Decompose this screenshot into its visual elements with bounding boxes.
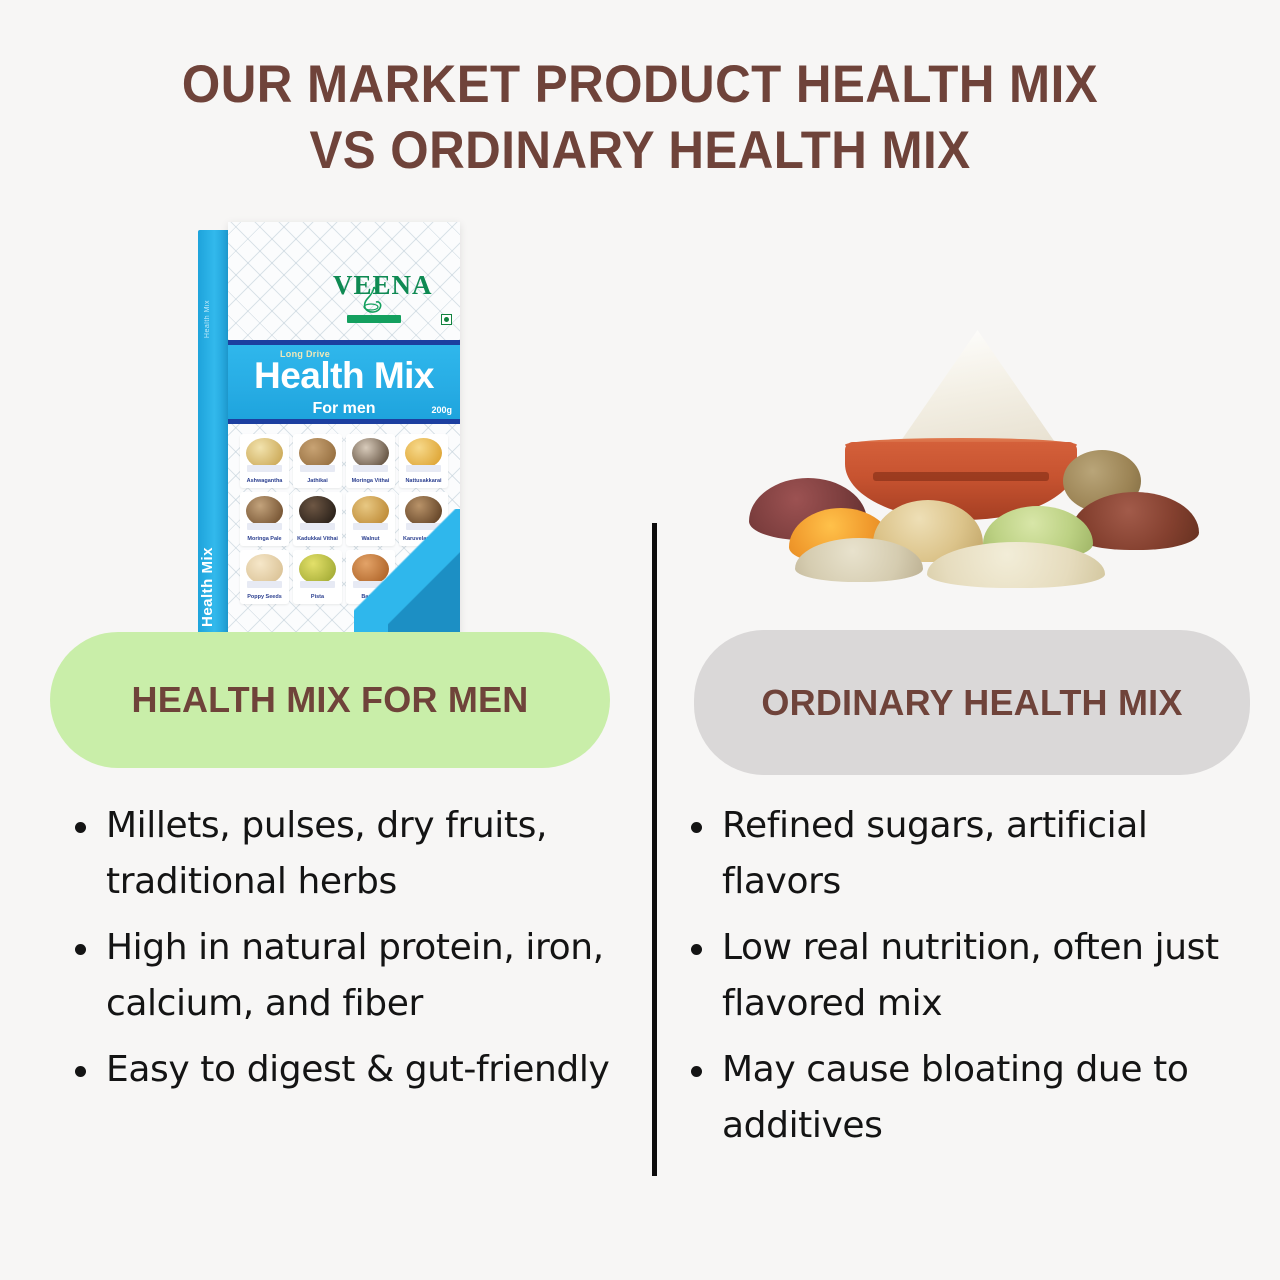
ingredient-photo [299, 554, 336, 584]
ingredient-label: Moringa Vithai [346, 478, 395, 485]
ingredient-tamil-tag [406, 465, 441, 472]
title-line-1: OUR MARKET PRODUCT HEALTH MIX [45, 52, 1235, 118]
right-column-pill-label: ORDINARY HEALTH MIX [694, 630, 1250, 775]
ingredient-photo [246, 438, 283, 468]
product-title-band: Long Drive Health Mix For men 200g [228, 340, 460, 424]
ingredient-photo [246, 554, 283, 584]
left-benefits-list: Millets, pulses, dry fruits, traditional… [64, 798, 620, 1108]
product-title: Health Mix [228, 355, 460, 397]
product-subtitle: For men [228, 400, 460, 418]
spine-sub-text: Health Mix [204, 300, 222, 338]
ingredient-label: Kadukkai Vithai [293, 536, 342, 543]
ingredient-tamil-tag [300, 465, 335, 472]
ingredient-label: Moringa Pale [240, 536, 289, 543]
bowl-decor-band [873, 472, 1049, 481]
ingredient-tamil-tag [300, 523, 335, 530]
ingredient-photo [405, 438, 442, 468]
list-item: Refined sugars, artificial flavors [680, 798, 1240, 910]
spine-title-text: Health Mix [199, 547, 227, 627]
list-item: Millets, pulses, dry fruits, traditional… [64, 798, 620, 910]
list-item: High in natural protein, iron, calcium, … [64, 920, 620, 1032]
ingredient-cell: Pista [293, 550, 342, 604]
ingredient-cell: Nattusakkarai [399, 434, 448, 488]
product-box-image: Health Mix Health Mix VEENA Long Drive [198, 222, 460, 637]
ingredient-label: Poppy Seeds [240, 594, 289, 601]
ingredient-tamil-tag [247, 581, 282, 588]
product-box-face: VEENA Long Drive Health Mix For men 200g… [228, 222, 460, 637]
ingredient-tamil-tag [247, 465, 282, 472]
column-divider [652, 523, 657, 1176]
logo-underline-bar [347, 315, 401, 323]
ingredient-photo [299, 438, 336, 468]
brand-name: VEENA [333, 270, 415, 301]
ingredient-cell: Jathikai [293, 434, 342, 488]
veena-logo: VEENA [333, 248, 415, 326]
ingredient-cell: Poppy Seeds [240, 550, 289, 604]
page-title: OUR MARKET PRODUCT HEALTH MIX VS ORDINAR… [0, 52, 1280, 184]
ingredient-tamil-tag [247, 523, 282, 530]
ingredient-photo [299, 496, 336, 526]
ingredient-cell: Moringa Vithai [346, 434, 395, 488]
ingredient-label: Jathikai [293, 478, 342, 485]
comparison-poster: OUR MARKET PRODUCT HEALTH MIX VS ORDINAR… [0, 0, 1280, 1280]
title-line-2: VS ORDINARY HEALTH MIX [45, 118, 1235, 184]
left-column-pill-label: HEALTH MIX FOR MEN [50, 632, 610, 768]
ingredient-photo [246, 496, 283, 526]
list-item: Easy to digest & gut-friendly [64, 1042, 620, 1098]
list-item: Low real nutrition, often just flavored … [680, 920, 1240, 1032]
ingredient-label: Ashwagantha [240, 478, 289, 485]
right-drawbacks-list: Refined sugars, artificial flavorsLow re… [680, 798, 1240, 1164]
cyan-swoosh-inner [388, 547, 460, 637]
ingredient-tamil-tag [353, 465, 388, 472]
list-item: May cause bloating due to additives [680, 1042, 1240, 1154]
ingredient-cell: Moringa Pale [240, 492, 289, 546]
vegetarian-mark-icon [441, 314, 452, 325]
ingredient-tamil-tag [300, 581, 335, 588]
ingredient-cell: Ashwagantha [240, 434, 289, 488]
ingredient-label: Pista [293, 594, 342, 601]
ingredient-photo [352, 438, 389, 468]
ingredient-cell: Kadukkai Vithai [293, 492, 342, 546]
product-weight: 200g [431, 405, 452, 415]
product-box-spine: Health Mix Health Mix [198, 230, 228, 637]
ingredient-label: Nattusakkarai [399, 478, 448, 485]
ordinary-mix-photo [745, 330, 1200, 595]
